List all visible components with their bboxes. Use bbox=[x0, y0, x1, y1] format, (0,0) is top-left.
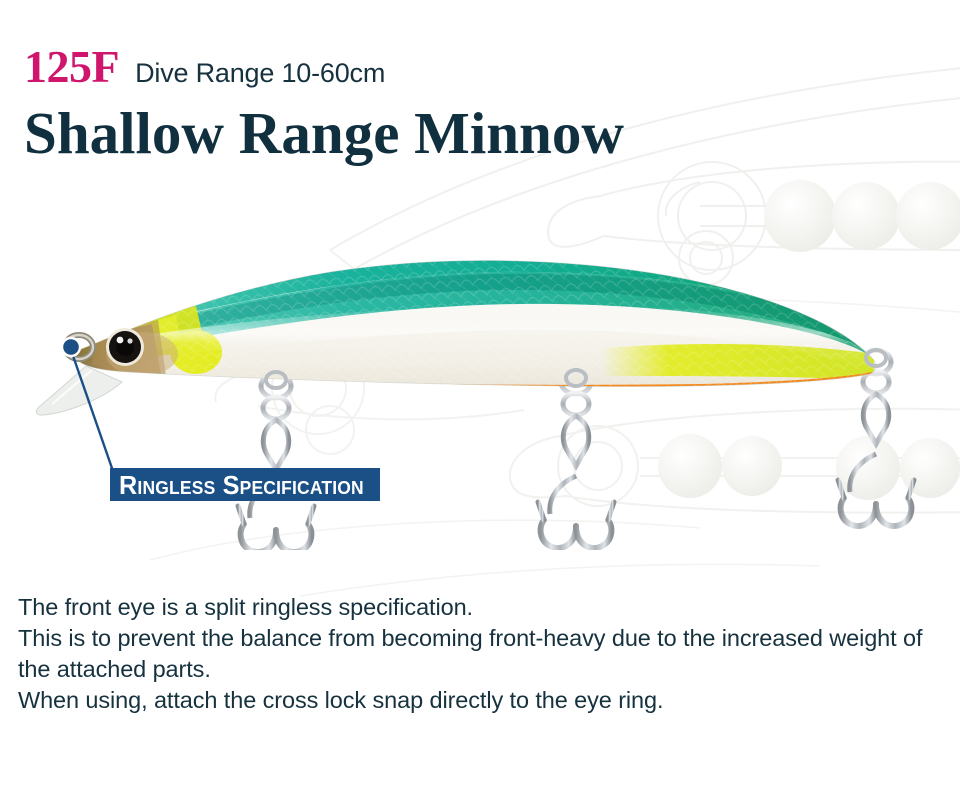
lure-product-image bbox=[0, 230, 960, 550]
lure-body bbox=[60, 250, 890, 400]
model-code: 125F bbox=[24, 44, 119, 90]
model-row: 125F Dive Range 10-60cm bbox=[24, 44, 624, 96]
product-detail-page: 125F Dive Range 10-60cm Shallow Range Mi… bbox=[0, 0, 960, 785]
treble-hook-middle bbox=[538, 370, 614, 548]
diving-lip bbox=[37, 366, 122, 415]
treble-hook-front bbox=[238, 374, 314, 550]
page-header: 125F Dive Range 10-60cm Shallow Range Mi… bbox=[24, 44, 624, 166]
lure-eye bbox=[106, 328, 144, 366]
status-badge: Ringless Specification bbox=[110, 468, 380, 501]
description-line-2: This is to prevent the balance from beco… bbox=[18, 623, 928, 685]
page-title: Shallow Range Minnow bbox=[24, 100, 624, 166]
description-line-1: The front eye is a split ringless specif… bbox=[18, 592, 928, 623]
description-line-3: When using, attach the cross lock snap d… bbox=[18, 685, 928, 716]
ringless-specification-label: Ringless Specification bbox=[119, 472, 364, 498]
dive-range-label: Dive Range 10-60cm bbox=[135, 58, 385, 88]
description-block: The front eye is a split ringless specif… bbox=[18, 592, 928, 716]
